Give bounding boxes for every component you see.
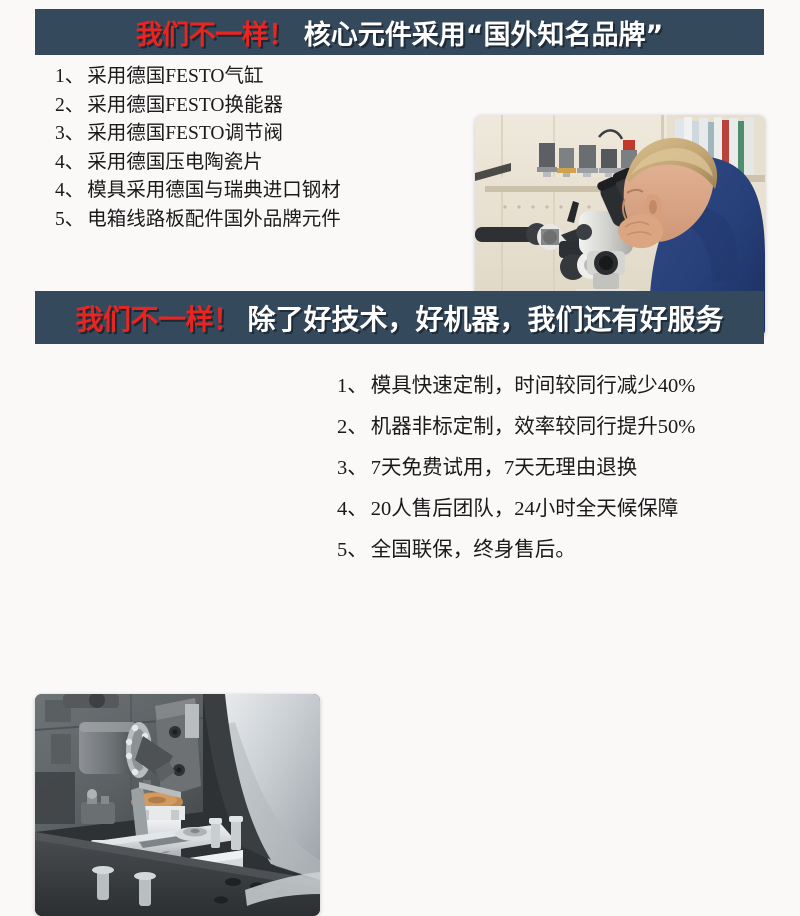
list-item-number: 1、 bbox=[337, 375, 368, 397]
list-item: 3、7天免费试用，7天无理由退换 bbox=[337, 448, 777, 489]
list-item: 4、模具采用德国与瑞典进口钢材 bbox=[55, 177, 455, 206]
section-one-banner-rest: 核心元件采用“国外知名品牌” bbox=[304, 13, 664, 52]
list-item-number: 4、 bbox=[337, 498, 368, 520]
section-two-banner-rest: 除了好技术，好机器，我们还有好服务 bbox=[248, 298, 724, 338]
list-item-label: 20人售后团队，24小时全天候保障 bbox=[371, 498, 679, 520]
list-item: 4、20人售后团队，24小时全天候保障 bbox=[337, 489, 777, 530]
section-one-banner: 我们不一样！ 核心元件采用“国外知名品牌” bbox=[35, 9, 764, 55]
promotional-page: 我们不一样！ 核心元件采用“国外知名品牌” 1、采用德国FESTO气缸 2、采用… bbox=[0, 0, 800, 597]
list-item-number: 3、 bbox=[55, 123, 84, 144]
component-spec-list: 1、采用德国FESTO气缸 2、采用德国FESTO换能器 3、采用德国FESTO… bbox=[55, 63, 455, 234]
list-item-label: 采用德国FESTO调节阀 bbox=[87, 123, 283, 144]
service-promise-list: 1、模具快速定制，时间较同行减少40% 2、机器非标定制，效率较同行提升50% … bbox=[337, 366, 777, 571]
list-item-number: 5、 bbox=[337, 539, 368, 561]
list-item-number: 2、 bbox=[337, 416, 368, 438]
list-item: 2、机器非标定制，效率较同行提升50% bbox=[337, 407, 777, 448]
section-two-banner-highlight: 我们不一样！ bbox=[75, 298, 240, 338]
list-item: 5、电箱线路板配件国外品牌元件 bbox=[55, 206, 455, 235]
list-item-label: 模具采用德国与瑞典进口钢材 bbox=[87, 180, 341, 201]
list-item-label: 7天免费试用，7天无理由退换 bbox=[371, 457, 638, 479]
list-item: 1、模具快速定制，时间较同行减少40% bbox=[337, 366, 777, 407]
list-item-label: 电箱线路板配件国外品牌元件 bbox=[87, 209, 341, 230]
list-item-number: 2、 bbox=[55, 95, 84, 116]
list-item: 4、采用德国压电陶瓷片 bbox=[55, 149, 455, 178]
section-two-banner-text: 我们不一样！ 除了好技术，好机器，我们还有好服务 bbox=[75, 298, 723, 338]
list-item-number: 5、 bbox=[55, 209, 84, 230]
section-one-body: 1、采用德国FESTO气缸 2、采用德国FESTO换能器 3、采用德国FESTO… bbox=[0, 55, 800, 291]
section-one-banner-highlight: 我们不一样！ bbox=[136, 13, 295, 52]
list-item: 5、全国联保，终身售后。 bbox=[337, 530, 777, 571]
list-item-number: 3、 bbox=[337, 457, 368, 479]
list-item-number: 4、 bbox=[55, 180, 84, 201]
list-item-number: 1、 bbox=[55, 66, 84, 87]
list-item-label: 采用德国FESTO气缸 bbox=[87, 66, 263, 87]
list-item-label: 全国联保，终身售后。 bbox=[371, 539, 576, 561]
list-item-number: 4、 bbox=[55, 152, 84, 173]
list-item-label: 采用德国FESTO换能器 bbox=[87, 95, 283, 116]
list-item: 3、采用德国FESTO调节阀 bbox=[55, 120, 455, 149]
section-two-body: 1、模具快速定制，时间较同行减少40% 2、机器非标定制，效率较同行提升50% … bbox=[0, 344, 800, 597]
list-item: 1、采用德国FESTO气缸 bbox=[55, 63, 455, 92]
list-item-label: 模具快速定制，时间较同行减少40% bbox=[371, 375, 696, 397]
list-item: 2、采用德国FESTO换能器 bbox=[55, 92, 455, 121]
list-item-label: 机器非标定制，效率较同行提升50% bbox=[371, 416, 696, 438]
machine-tooling-photo bbox=[35, 694, 320, 916]
list-item-label: 采用德国压电陶瓷片 bbox=[87, 152, 263, 173]
section-one-banner-text: 我们不一样！ 核心元件采用“国外知名品牌” bbox=[136, 13, 664, 52]
section-two-banner: 我们不一样！ 除了好技术，好机器，我们还有好服务 bbox=[35, 291, 764, 344]
